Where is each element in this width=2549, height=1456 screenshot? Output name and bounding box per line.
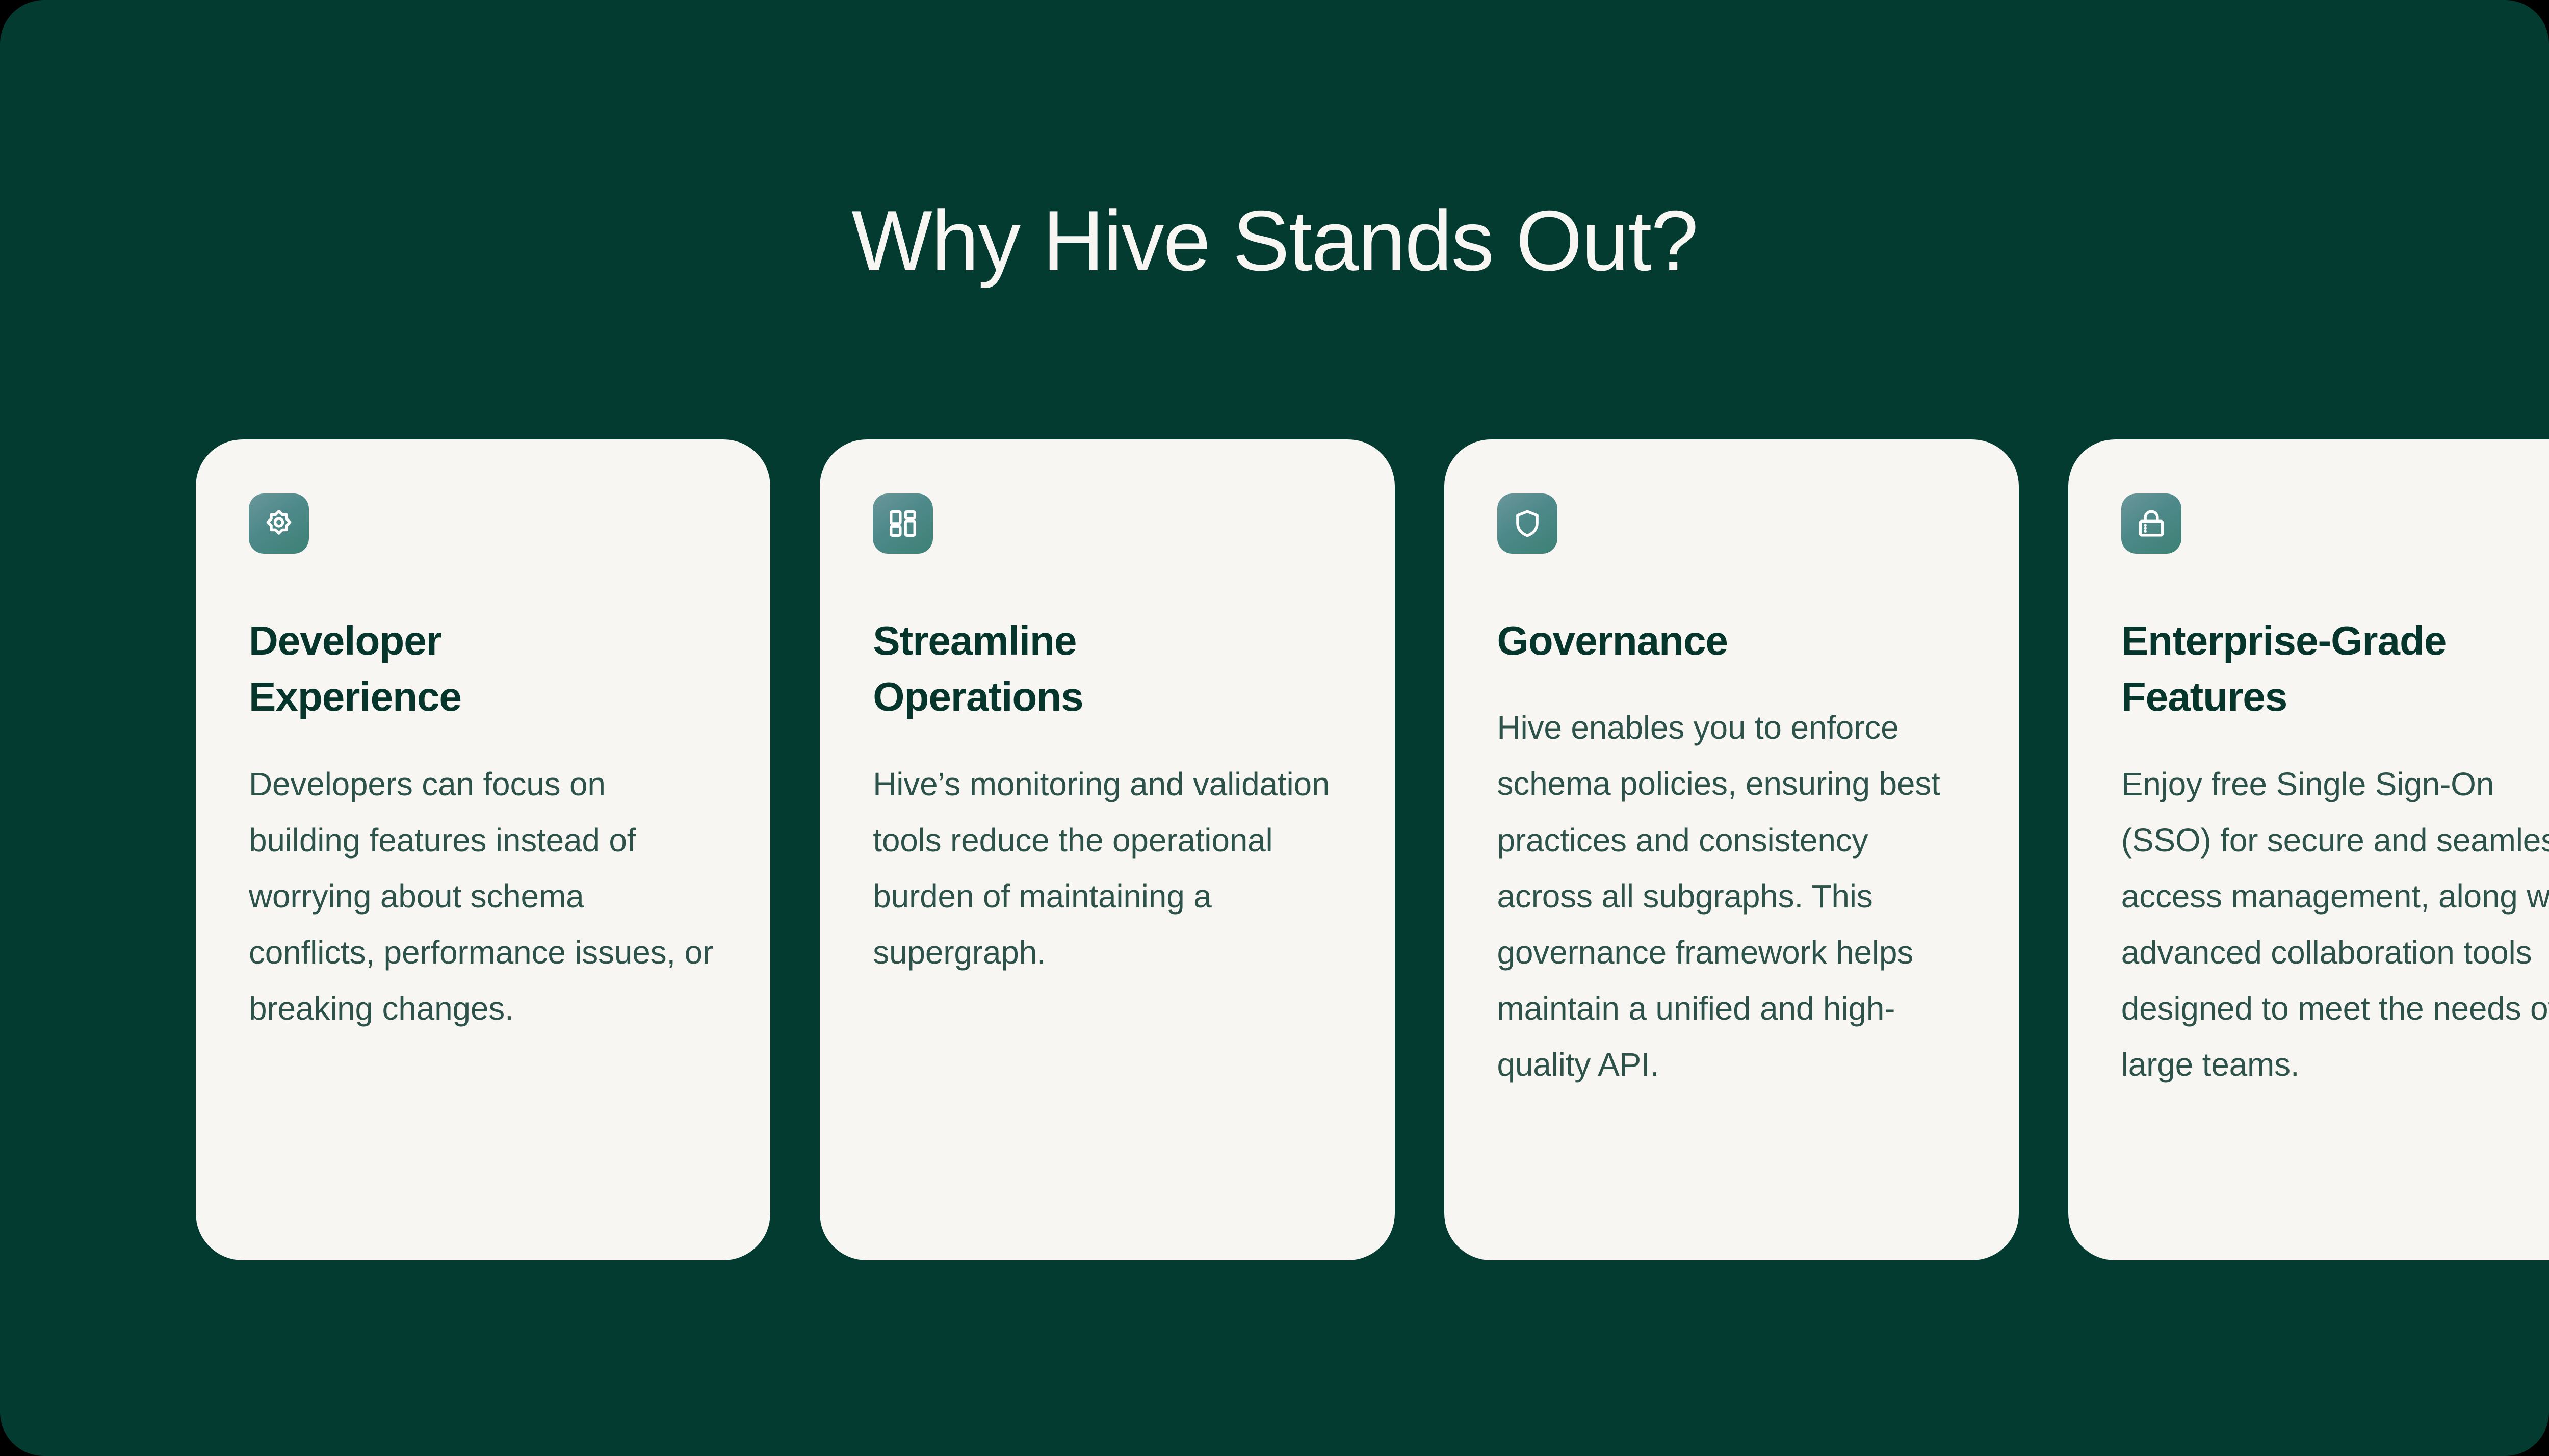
page-root: Why Hive Stands Out? Developer Experienc…	[0, 0, 2549, 1456]
dashboard-grid-icon-tile	[873, 493, 933, 554]
page-title: Why Hive Stands Out?	[0, 194, 2549, 288]
lock-icon	[2136, 508, 2167, 539]
feature-card-streamline-operations[interactable]: Streamline Operations Hive’s monitoring …	[820, 439, 1394, 1260]
card-heading: Governance	[1497, 613, 1832, 669]
feature-card-governance[interactable]: Governance Hive enables you to enforce s…	[1444, 439, 2019, 1260]
feature-card-enterprise-grade-features[interactable]: Enterprise-Grade Features Enjoy free Sin…	[2068, 439, 2549, 1260]
card-heading: Streamline Operations	[873, 613, 1207, 725]
card-body: Hive’s monitoring and validation tools r…	[873, 756, 1341, 980]
gear-icon-tile	[249, 493, 309, 554]
gear-icon	[263, 508, 295, 539]
feature-card-developer-experience[interactable]: Developer Experience Developers can focu…	[196, 439, 770, 1260]
shield-icon-tile	[1497, 493, 1557, 554]
card-heading: Developer Experience	[249, 613, 583, 725]
feature-card-grid: Developer Experience Developers can focu…	[196, 439, 2549, 1260]
card-body: Developers can focus on building feature…	[249, 756, 717, 1036]
lock-icon-tile	[2121, 493, 2181, 554]
shield-icon	[1512, 508, 1543, 539]
dashboard-grid-icon	[887, 508, 919, 539]
card-body: Hive enables you to enforce schema polic…	[1497, 699, 1966, 1093]
card-heading: Enterprise-Grade Features	[2121, 613, 2456, 725]
card-body: Enjoy free Single Sign-On (SSO) for secu…	[2121, 756, 2549, 1093]
